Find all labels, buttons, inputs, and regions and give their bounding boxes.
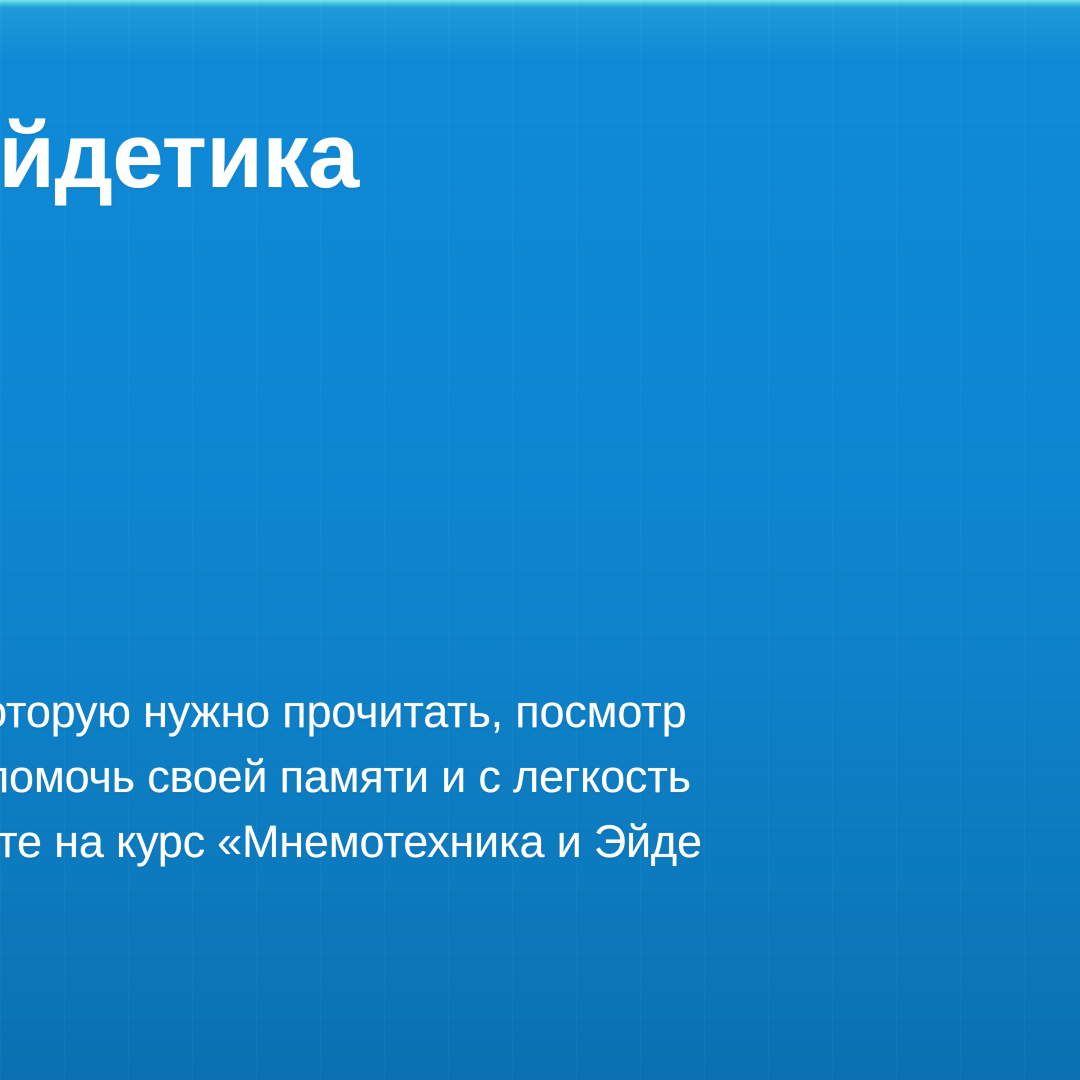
slide-canvas: ика и Эйдетика ормацией, которую нужно п… [0,0,1080,1080]
body-line: но? Приходите на курс «Мнемотехника и Эй… [0,816,702,868]
body-line: ормацией, которую нужно прочитать, посмо… [0,686,686,738]
body-line: чен. Хотите помочь своей памяти и с легк… [0,751,691,803]
slide-title-text: ика и Эйдетика [0,98,359,214]
slide-title: ика и Эйдетика [0,98,1080,218]
slide-body: ормацией, которую нужно прочитать, посмо… [0,676,1080,966]
